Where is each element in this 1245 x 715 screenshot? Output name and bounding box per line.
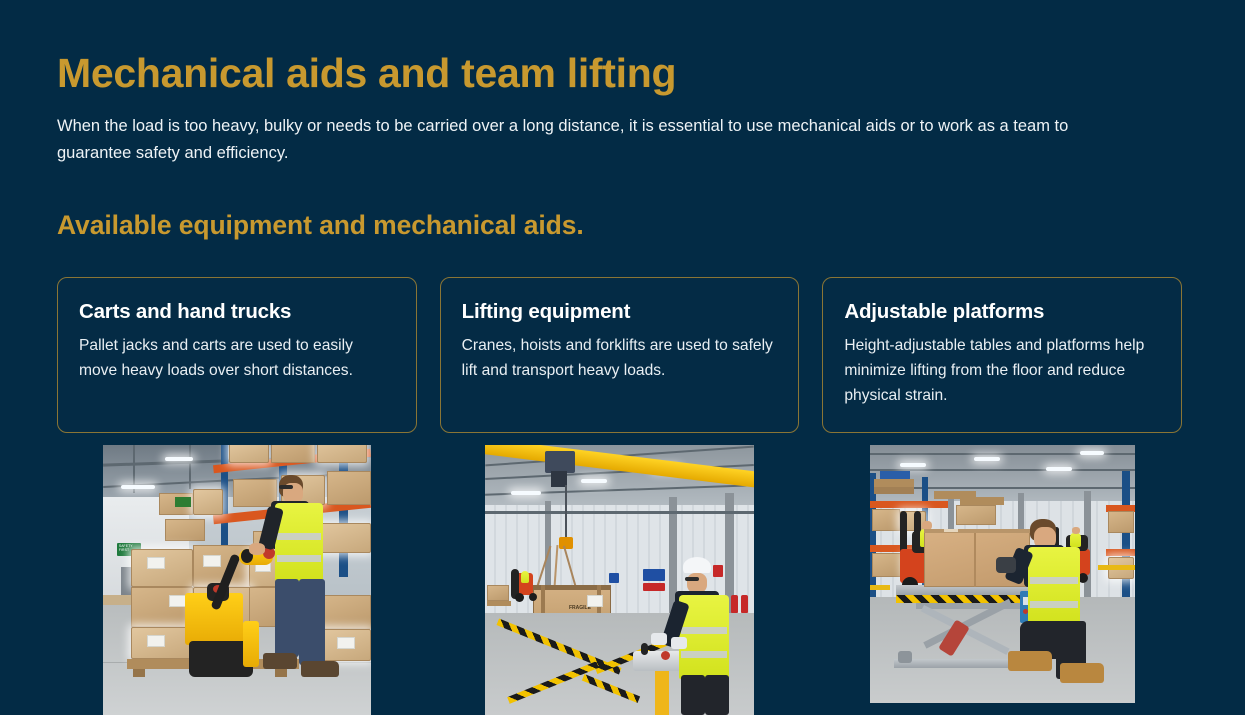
equipment-card-carts[interactable]: Carts and hand trucks Pallet jacks and c… <box>57 277 417 434</box>
intro-paragraph: When the load is too heavy, bulky or nee… <box>57 97 1077 167</box>
card-text: Cranes, hoists and forklifts are used to… <box>462 333 778 384</box>
photo-slot-3 <box>822 445 1182 715</box>
photo-row: SAFETYFIRST <box>57 433 1182 715</box>
pallet-jack-photo: SAFETYFIRST <box>103 445 371 715</box>
photo-slot-1: SAFETYFIRST <box>57 445 417 715</box>
slide-background: Mechanical aids and team lifting When th… <box>0 0 1245 696</box>
photo-slot-2: FRAGILE HEAVY LOAD <box>440 445 800 715</box>
scissor-lift-photo <box>870 445 1135 703</box>
equipment-card-platforms[interactable]: Adjustable platforms Height-adjustable t… <box>822 277 1182 434</box>
card-title: Adjustable platforms <box>844 300 1160 324</box>
page-title: Mechanical aids and team lifting <box>57 0 1182 97</box>
card-title: Lifting equipment <box>462 300 778 324</box>
slide-content: Mechanical aids and team lifting When th… <box>57 0 1182 715</box>
equipment-card-list: Carts and hand trucks Pallet jacks and c… <box>57 241 1182 434</box>
overhead-crane-photo: FRAGILE HEAVY LOAD <box>485 445 754 715</box>
card-title: Carts and hand trucks <box>79 300 395 324</box>
section-title: Available equipment and mechanical aids. <box>57 168 1182 241</box>
equipment-card-lifting[interactable]: Lifting equipment Cranes, hoists and for… <box>440 277 800 434</box>
card-text: Height-adjustable tables and platforms h… <box>844 333 1160 409</box>
card-text: Pallet jacks and carts are used to easil… <box>79 333 395 384</box>
